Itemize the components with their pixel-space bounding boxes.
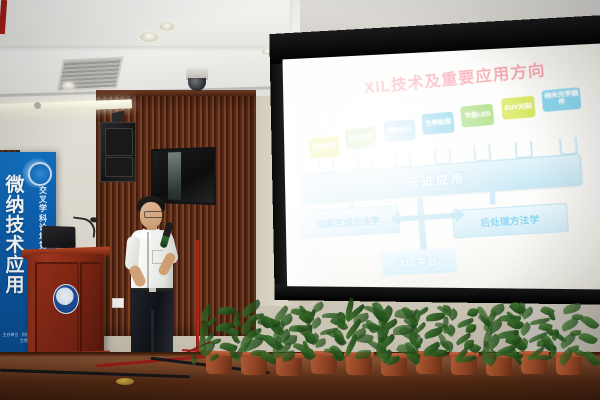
leaf: [406, 351, 421, 366]
trouser-seam: [151, 310, 154, 358]
application-box: 细胞生长: [383, 120, 416, 143]
presentation-photo-scene: XIL技术及重要应用方向 污水处理 纳米磁学 细胞生长 生物检测 节能LED E…: [0, 0, 600, 400]
screen-surface: XIL技术及重要应用方向 污水处理 纳米磁学 细胞生长 生物检测 节能LED E…: [282, 43, 600, 290]
application-box: 污水处理: [308, 137, 339, 160]
application-box: 纳米磁学: [345, 127, 377, 150]
methodology-right-box: 后处理方法学: [451, 203, 569, 239]
plant-foliage: [543, 301, 595, 363]
shirt-placket: [147, 232, 149, 288]
double-headed-arrow-icon: [399, 213, 455, 222]
recessed-downlight-icon: [140, 32, 158, 42]
vertical-arrow-stalk: [417, 198, 428, 255]
methodology-left-box: 图案生成方法学: [297, 205, 399, 239]
sprinkler-icon: [34, 102, 41, 109]
plant-foliage: [368, 302, 420, 364]
methodology-right-label: 后处理方法学: [479, 212, 539, 229]
podium-front-panel: [35, 262, 79, 354]
leaf: [332, 328, 345, 346]
recessed-downlight-icon: [62, 82, 75, 90]
gooseneck-microphone-icon: [71, 216, 97, 237]
podium-side-panel: [80, 262, 102, 354]
platform-box: XIL平台: [380, 248, 457, 275]
leaf: [230, 327, 239, 343]
university-crest-icon: [53, 284, 79, 314]
up-arrow-icon: [485, 181, 496, 189]
methodology-left-label: 图案生成方法学: [316, 213, 381, 230]
plant-foliage: [473, 302, 525, 364]
eyeglasses-icon: [144, 211, 164, 218]
plant-foliage: [263, 302, 315, 364]
leaf: [547, 309, 555, 321]
presenter: [118, 192, 190, 374]
application-box: EUV光刻: [501, 96, 536, 120]
leaf: [206, 317, 217, 326]
podium: [28, 254, 104, 360]
speaker-driver-icon: [105, 157, 133, 177]
leaf: [443, 340, 455, 353]
loudspeaker-cabinet: [100, 122, 136, 182]
application-box: 生物检测: [421, 112, 454, 136]
recessed-downlight-icon: [160, 22, 174, 31]
leaf: [231, 311, 242, 327]
brass-floor-socket-icon: [116, 378, 134, 385]
leaf: [208, 354, 219, 362]
application-box: 节能LED: [461, 104, 495, 128]
up-arrow-icon: [344, 194, 354, 201]
leaf: [562, 303, 581, 315]
dome-security-camera-icon: [186, 68, 208, 80]
leaf: [281, 350, 295, 362]
leaf: [366, 319, 377, 334]
leaf: [260, 315, 273, 330]
application-box: 纳米光学器件: [542, 88, 582, 113]
leaf: [372, 300, 388, 323]
arrow-stalk: [490, 190, 496, 204]
platform-label: XIL平台: [399, 254, 439, 270]
advanced-application-label: 先进应用: [406, 170, 466, 191]
slide-content: XIL技术及重要应用方向 污水处理 纳米磁学 细胞生长 生物检测 节能LED E…: [282, 43, 600, 290]
projection-screen: XIL技术及重要应用方向 污水处理 纳米磁学 细胞生长 生物检测 节能LED E…: [269, 14, 600, 305]
speaker-driver-icon: [105, 128, 133, 156]
